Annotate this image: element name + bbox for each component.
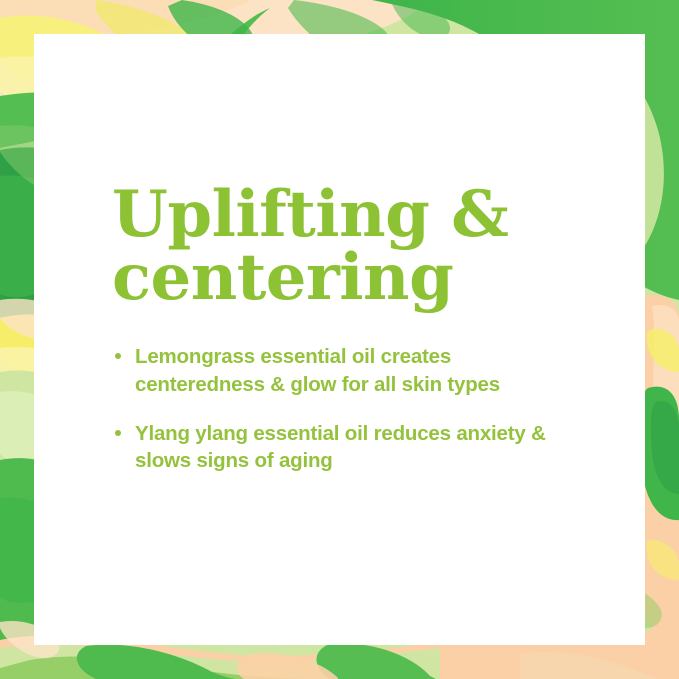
bullet-dot-icon [115, 353, 121, 359]
list-item-text: Ylang ylang essential oil reduces anxiet… [135, 420, 582, 475]
list-item-text: Lemongrass essential oil creates centere… [135, 343, 582, 398]
benefits-list: Lemongrass essential oil creates centere… [112, 343, 582, 474]
poster-canvas: Uplifting & centering Lemongrass essenti… [0, 0, 679, 679]
card-content: Uplifting & centering Lemongrass essenti… [112, 184, 582, 474]
bullet-dot-icon [115, 430, 121, 436]
page-title: Uplifting & centering [112, 184, 582, 309]
content-card: Uplifting & centering Lemongrass essenti… [34, 34, 645, 645]
list-item: Ylang ylang essential oil reduces anxiet… [112, 420, 582, 475]
list-item: Lemongrass essential oil creates centere… [112, 343, 582, 398]
